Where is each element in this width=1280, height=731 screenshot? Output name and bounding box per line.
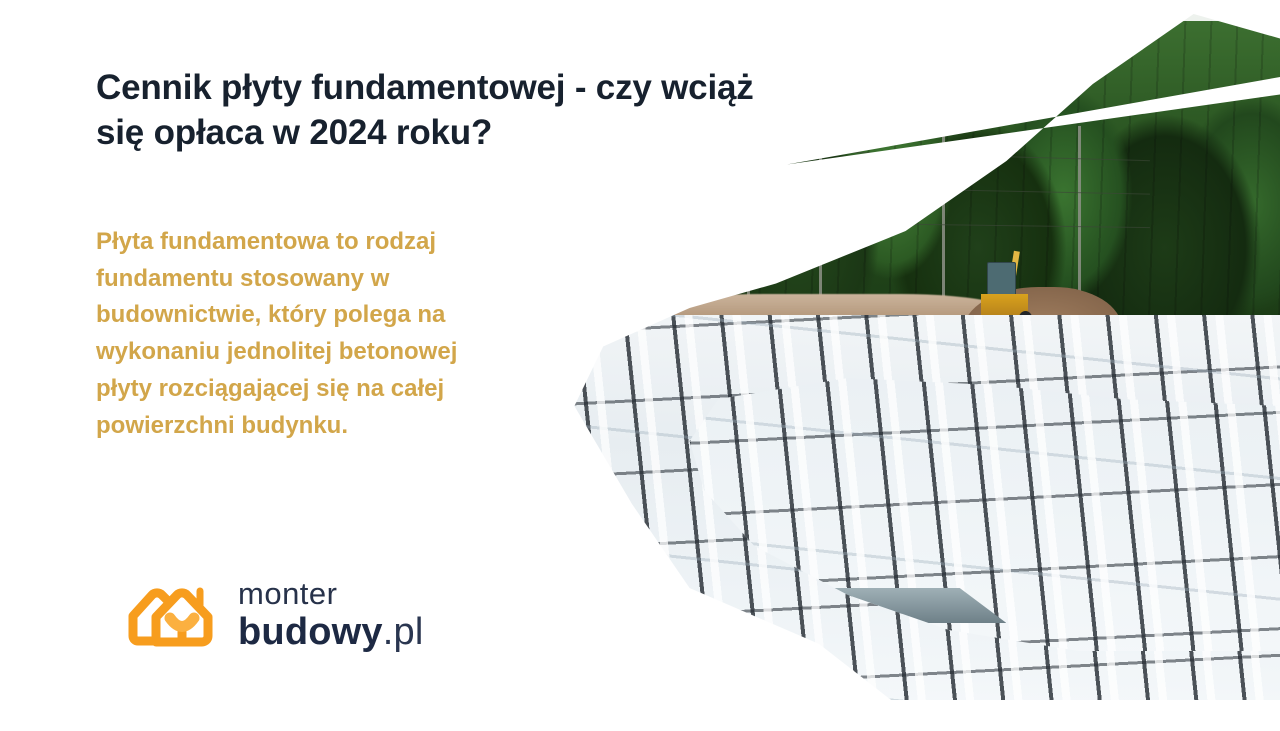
page-title: Cennik płyty fundamentowej - czy wciąż s…	[96, 66, 976, 156]
brand-tld: .pl	[383, 611, 424, 653]
brand-wordmark: monter budowy.pl	[238, 578, 423, 651]
lede-paragraph: Płyta fundamentowa to rodzaj fundamentu …	[96, 224, 516, 444]
page-title-line-2: się opłaca w 2024 roku?	[96, 113, 492, 152]
page-title-line-1: Cennik płyty fundamentowej - czy wciąż	[96, 68, 754, 107]
brand-word-monter: monter	[238, 578, 423, 609]
brand-word-budowy: budowy.pl	[238, 613, 423, 651]
brand-word-budowy-text: budowy	[238, 611, 383, 653]
promo-banner: Cennik płyty fundamentowej - czy wciąż s…	[0, 0, 1280, 731]
house-smile-icon	[128, 578, 224, 650]
retaining-wall	[560, 254, 661, 338]
excavator-cab	[987, 262, 1016, 299]
brand-logo[interactable]: monter budowy.pl	[128, 574, 478, 654]
